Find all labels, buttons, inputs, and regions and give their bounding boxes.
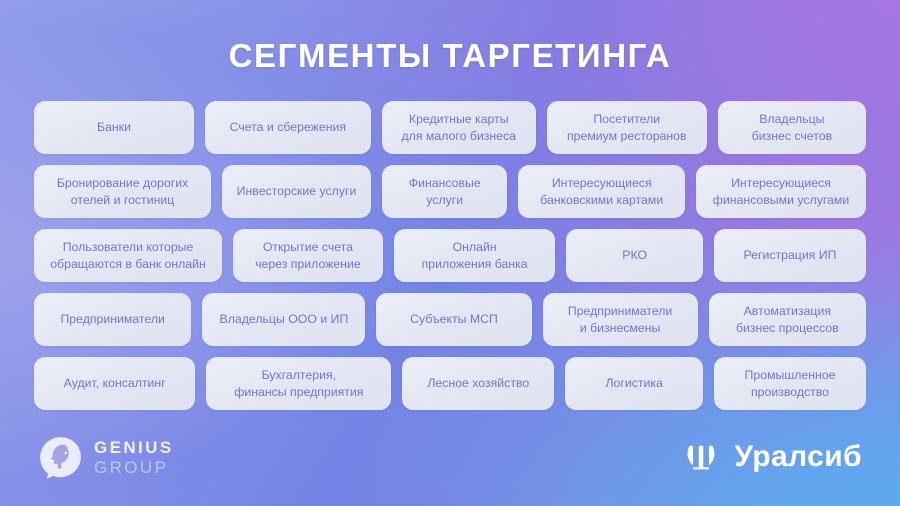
- segment-card[interactable]: Субъекты МСП: [376, 293, 531, 346]
- segment-card[interactable]: Банки: [34, 101, 194, 154]
- segment-card[interactable]: Логистика: [565, 357, 703, 410]
- genius-face-circle-icon: [38, 435, 83, 480]
- segments-row: Аудит, консалтингБухгалтерия, финансы пр…: [34, 357, 866, 410]
- segment-card[interactable]: РКО: [566, 229, 702, 282]
- segment-card[interactable]: Инвесторские услуги: [222, 165, 371, 218]
- genius-group-wordmark: GENIUS GROUP: [94, 439, 174, 476]
- genius-group-logo: GENIUS GROUP: [38, 435, 174, 480]
- segments-row: Пользователи которые обращаются в банк о…: [34, 229, 866, 282]
- segment-card[interactable]: Финансовые услуги: [382, 165, 507, 218]
- segments-row: БанкиСчета и сбереженияКредитные карты д…: [34, 101, 866, 154]
- segment-card[interactable]: Онлайн приложения банка: [394, 229, 556, 282]
- segment-card[interactable]: Открытие счета через приложение: [233, 229, 383, 282]
- segment-card[interactable]: Счета и сбережения: [205, 101, 371, 154]
- segments-row: Бронирование дорогих отелей и гостиницИн…: [34, 165, 866, 218]
- segment-card[interactable]: Владельцы бизнес счетов: [718, 101, 866, 154]
- segment-card[interactable]: Бронирование дорогих отелей и гостиниц: [34, 165, 211, 218]
- segment-card[interactable]: Пользователи которые обращаются в банк о…: [34, 229, 222, 282]
- genius-logo-line1: GENIUS: [94, 439, 174, 456]
- uralsib-logo: Уралсиб: [681, 437, 862, 477]
- segment-card[interactable]: Посетители премиум ресторанов: [547, 101, 707, 154]
- genius-logo-line2: GROUP: [94, 459, 174, 476]
- segment-card[interactable]: Промышленное производство: [714, 357, 866, 410]
- segments-row: ПредпринимателиВладельцы ООО и ИПСубъект…: [34, 293, 866, 346]
- segment-card[interactable]: Аудит, консалтинг: [34, 357, 195, 410]
- segments-grid: БанкиСчета и сбереженияКредитные карты д…: [34, 101, 866, 410]
- segment-card[interactable]: Регистрация ИП: [714, 229, 866, 282]
- segment-card[interactable]: Лесное хозяйство: [402, 357, 554, 410]
- segment-card[interactable]: Владельцы ООО и ИП: [202, 293, 365, 346]
- segment-card[interactable]: Автоматизация бизнес процессов: [709, 293, 866, 346]
- segment-card[interactable]: Интересующиеся банковскими картами: [518, 165, 685, 218]
- uralsib-wordmark: Уралсиб: [734, 440, 862, 474]
- segment-card[interactable]: Предприниматели и бизнесмены: [543, 293, 698, 346]
- segment-card[interactable]: Предприниматели: [34, 293, 191, 346]
- segment-card[interactable]: Интересующиеся финансовыми услугами: [696, 165, 866, 218]
- footer: GENIUS GROUP Уралсиб: [0, 426, 900, 488]
- slide-canvas: СЕГМЕНТЫ ТАРГЕТИНГА БанкиСчета и сбереже…: [0, 0, 900, 506]
- segment-card[interactable]: Кредитные карты для малого бизнеса: [382, 101, 536, 154]
- uralsib-leaf-emblem-icon: [681, 437, 721, 477]
- segment-card[interactable]: Бухгалтерия, финансы предприятия: [206, 357, 391, 410]
- page-title: СЕГМЕНТЫ ТАРГЕТИНГА: [0, 0, 900, 75]
